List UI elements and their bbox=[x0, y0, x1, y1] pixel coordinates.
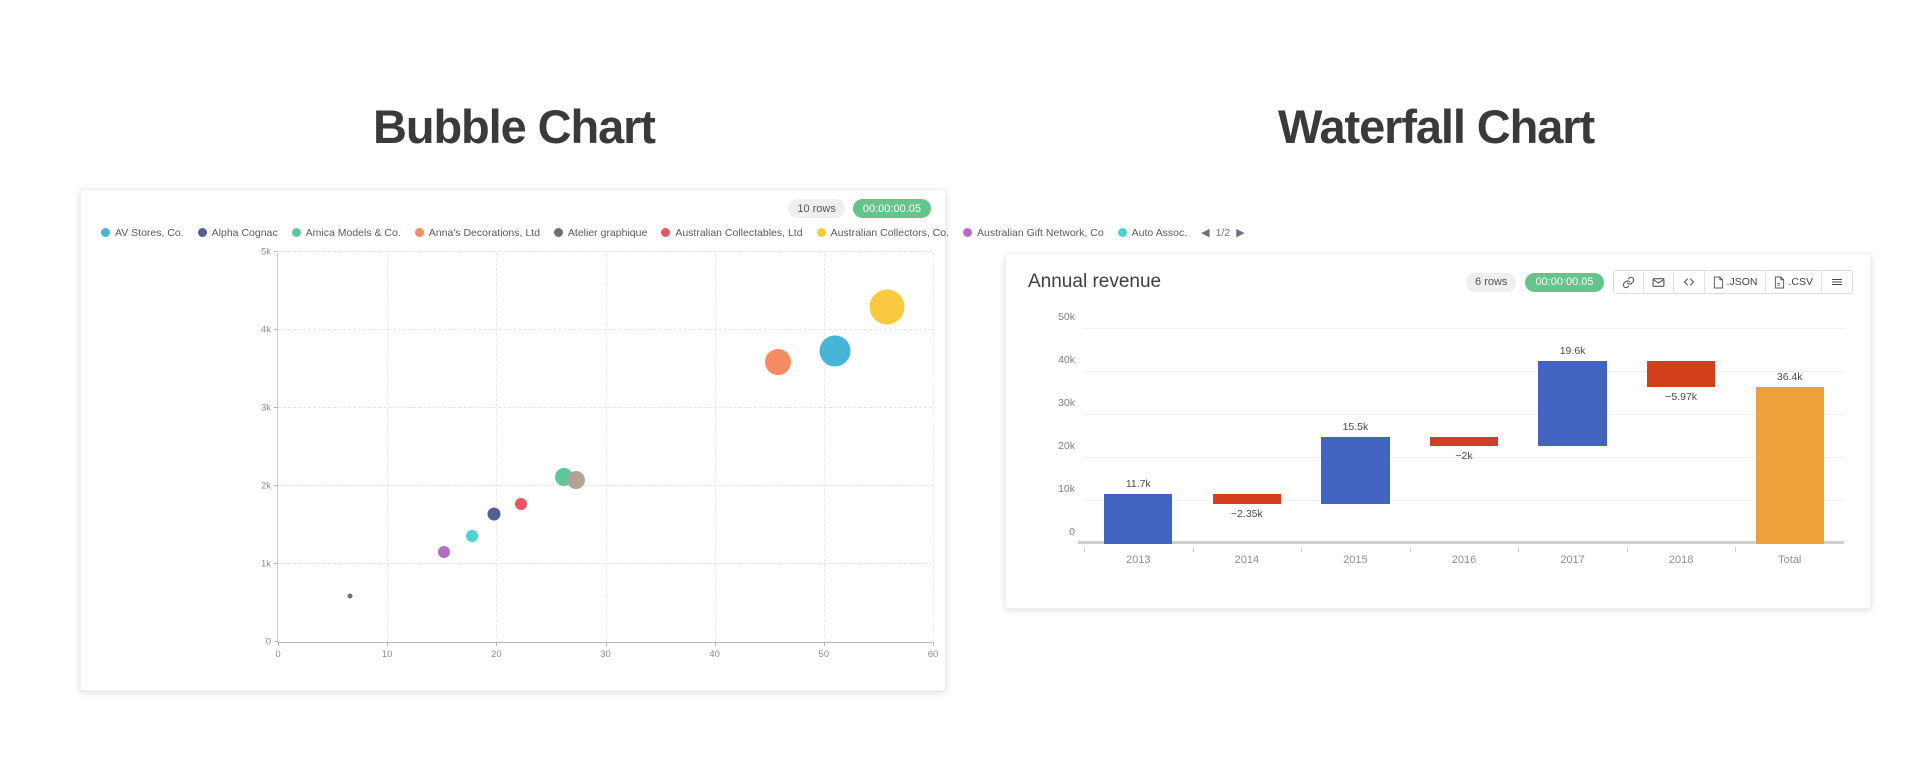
bubble-point[interactable] bbox=[466, 530, 478, 542]
legend-color-swatch bbox=[1118, 228, 1127, 237]
waterfall-bar[interactable] bbox=[1756, 387, 1824, 544]
legend-next-arrow[interactable]: ▶ bbox=[1236, 226, 1244, 239]
x-gridline bbox=[387, 253, 388, 642]
legend-item-label: Amica Models & Co. bbox=[306, 227, 401, 239]
waterfall-gridline bbox=[1084, 500, 1844, 501]
waterfall-bar-value-label: 11.7k bbox=[1126, 478, 1151, 490]
waterfall-bar[interactable] bbox=[1213, 494, 1281, 504]
legend-item[interactable]: Australian Gift Network, Co bbox=[963, 227, 1104, 239]
legend-color-swatch bbox=[292, 228, 301, 237]
legend-page-indicator: 1/2 bbox=[1216, 227, 1231, 239]
legend-item[interactable]: AV Stores, Co. bbox=[101, 227, 184, 239]
legend-item[interactable]: Amica Models & Co. bbox=[292, 227, 401, 239]
waterfall-bar-value-label: 36.4k bbox=[1777, 371, 1803, 383]
link-icon[interactable] bbox=[1614, 271, 1644, 293]
legend-color-swatch bbox=[415, 228, 424, 237]
legend-color-swatch bbox=[554, 228, 563, 237]
x-tick-mark bbox=[606, 642, 607, 646]
bubble-panel-title: Bubble Chart bbox=[373, 99, 655, 154]
legend-color-swatch bbox=[661, 228, 670, 237]
y-tick-mark bbox=[274, 563, 278, 564]
x-tick-mark bbox=[715, 642, 716, 646]
waterfall-y-tick-label: 30k bbox=[1058, 397, 1075, 409]
bubble-point[interactable] bbox=[567, 471, 585, 489]
x-tick-label: 30 bbox=[600, 649, 611, 660]
waterfall-y-tick-label: 0 bbox=[1069, 526, 1075, 538]
legend-item-label: Alpha Cognac bbox=[212, 227, 278, 239]
bubble-point[interactable] bbox=[819, 335, 850, 366]
legend-item[interactable]: Anna's Decorations, Ltd bbox=[415, 227, 540, 239]
legend-color-swatch bbox=[198, 228, 207, 237]
waterfall-panel-title: Waterfall Chart bbox=[1278, 99, 1594, 154]
x-tick-mark bbox=[278, 642, 279, 646]
waterfall-gridline bbox=[1084, 371, 1844, 372]
waterfall-x-tick-label: 2015 bbox=[1343, 554, 1367, 566]
waterfall-chart-card: Annual revenue 6 rows 00:00:00.05 bbox=[1005, 253, 1871, 609]
y-tick-label: 2k bbox=[261, 481, 271, 492]
waterfall-x-tick-mark bbox=[1627, 547, 1628, 552]
waterfall-x-tick-mark bbox=[1193, 547, 1194, 552]
legend-color-swatch bbox=[817, 228, 826, 237]
waterfall-y-tick-label: 10k bbox=[1058, 483, 1075, 495]
bubble-point[interactable] bbox=[515, 498, 527, 510]
waterfall-x-tick-label: 2017 bbox=[1560, 554, 1584, 566]
waterfall-x-tick-label: 2018 bbox=[1669, 554, 1693, 566]
waterfall-x-tick-mark bbox=[1084, 547, 1085, 552]
bubble-point[interactable] bbox=[488, 508, 501, 521]
menu-icon[interactable] bbox=[1822, 271, 1852, 293]
legend-item-label: Atelier graphique bbox=[568, 227, 647, 239]
waterfall-y-tick-label: 50k bbox=[1058, 311, 1075, 323]
bubble-point[interactable] bbox=[348, 594, 353, 599]
waterfall-timer-badge: 00:00:00.05 bbox=[1525, 273, 1603, 292]
waterfall-x-tick-label: 2016 bbox=[1452, 554, 1476, 566]
y-tick-mark bbox=[274, 407, 278, 408]
legend-prev-arrow[interactable]: ◀ bbox=[1201, 226, 1209, 239]
legend-item-label: Australian Collectors, Co. bbox=[831, 227, 949, 239]
bubble-plot-area: 01k2k3k4k5k0102030405060 bbox=[277, 253, 932, 643]
waterfall-bar[interactable] bbox=[1430, 437, 1498, 446]
x-gridline bbox=[606, 253, 607, 642]
waterfall-x-tick-mark bbox=[1518, 547, 1519, 552]
bubble-chart-card: 10 rows 00:00:00.05 AV Stores, Co.Alpha … bbox=[80, 189, 946, 691]
waterfall-card-header: Annual revenue 6 rows 00:00:00.05 bbox=[1006, 254, 1870, 310]
legend-item-label: Auto Assoc. bbox=[1132, 227, 1187, 239]
x-tick-label: 60 bbox=[928, 649, 939, 660]
waterfall-bar-value-label: 19.6k bbox=[1560, 345, 1586, 357]
legend-color-swatch bbox=[963, 228, 972, 237]
waterfall-plot: 010k20k30k40k50k11.7k2013−2.35k201415.5k… bbox=[1084, 329, 1844, 544]
x-tick-mark bbox=[824, 642, 825, 646]
waterfall-bar-value-label: 15.5k bbox=[1343, 421, 1369, 433]
x-tick-label: 40 bbox=[709, 649, 720, 660]
x-gridline bbox=[496, 253, 497, 642]
legend-item[interactable]: Alpha Cognac bbox=[198, 227, 278, 239]
waterfall-rows-badge: 6 rows bbox=[1466, 273, 1516, 292]
bubble-point[interactable] bbox=[870, 289, 905, 324]
waterfall-x-tick-mark bbox=[1301, 547, 1302, 552]
bubble-point[interactable] bbox=[765, 349, 791, 375]
json-file-icon[interactable]: .JSON bbox=[1705, 271, 1767, 293]
x-gridline bbox=[933, 253, 934, 642]
waterfall-card-title: Annual revenue bbox=[1028, 271, 1161, 293]
waterfall-bar-value-label: −2k bbox=[1455, 450, 1472, 462]
y-tick-label: 3k bbox=[261, 403, 271, 414]
waterfall-gridline bbox=[1084, 414, 1844, 415]
waterfall-bar[interactable] bbox=[1538, 361, 1606, 445]
x-tick-label: 50 bbox=[819, 649, 830, 660]
waterfall-bar[interactable] bbox=[1321, 437, 1389, 504]
bubble-timer-badge: 00:00:00.05 bbox=[853, 199, 931, 218]
json-export-label: .JSON bbox=[1727, 276, 1758, 288]
y-tick-label: 0 bbox=[266, 637, 271, 648]
x-tick-label: 10 bbox=[382, 649, 393, 660]
legend-item[interactable]: Atelier graphique bbox=[554, 227, 647, 239]
waterfall-toolbar: 6 rows 00:00:00.05 .JSON bbox=[1466, 270, 1853, 294]
bubble-card-meta: 10 rows 00:00:00.05 bbox=[788, 199, 931, 218]
legend-color-swatch bbox=[101, 228, 110, 237]
csv-file-icon[interactable]: .CSV bbox=[1766, 271, 1822, 293]
code-icon[interactable] bbox=[1674, 271, 1705, 293]
legend-item-label: Australian Collectables, Ltd bbox=[675, 227, 802, 239]
y-tick-mark bbox=[274, 329, 278, 330]
waterfall-x-tick-label: 2014 bbox=[1235, 554, 1259, 566]
x-gridline bbox=[824, 253, 825, 642]
waterfall-y-tick-label: 20k bbox=[1058, 440, 1075, 452]
legend-pager: ◀1/2▶ bbox=[1201, 226, 1245, 239]
waterfall-gridline bbox=[1084, 328, 1844, 329]
waterfall-y-tick-label: 40k bbox=[1058, 354, 1075, 366]
email-icon[interactable] bbox=[1644, 271, 1674, 293]
waterfall-bar[interactable] bbox=[1104, 494, 1172, 544]
legend-item-label: Australian Gift Network, Co bbox=[977, 227, 1104, 239]
waterfall-x-axis bbox=[1078, 541, 1844, 544]
legend-item-label: AV Stores, Co. bbox=[115, 227, 184, 239]
legend-item[interactable]: Auto Assoc. bbox=[1118, 227, 1187, 239]
y-gridline bbox=[278, 251, 932, 252]
x-tick-mark bbox=[387, 642, 388, 646]
waterfall-export-group: .JSON .CSV bbox=[1613, 270, 1853, 294]
bubble-point[interactable] bbox=[438, 546, 450, 558]
bubble-legend: AV Stores, Co.Alpha CognacAmica Models &… bbox=[101, 226, 935, 239]
legend-item-label: Anna's Decorations, Ltd bbox=[429, 227, 540, 239]
x-tick-mark bbox=[933, 642, 934, 646]
y-tick-mark bbox=[274, 251, 278, 252]
waterfall-bar[interactable] bbox=[1647, 361, 1715, 387]
waterfall-x-tick-label: Total bbox=[1778, 554, 1801, 566]
waterfall-x-tick-mark bbox=[1410, 547, 1411, 552]
waterfall-bar-value-label: −2.35k bbox=[1231, 508, 1263, 520]
y-tick-label: 1k bbox=[261, 559, 271, 570]
legend-item[interactable]: Australian Collectors, Co. bbox=[817, 227, 949, 239]
waterfall-x-tick-label: 2013 bbox=[1126, 554, 1150, 566]
y-tick-mark bbox=[274, 485, 278, 486]
waterfall-x-tick-mark bbox=[1735, 547, 1736, 552]
x-tick-mark bbox=[496, 642, 497, 646]
x-gridline bbox=[715, 253, 716, 642]
waterfall-bar-value-label: −5.97k bbox=[1665, 391, 1697, 403]
legend-item[interactable]: Australian Collectables, Ltd bbox=[661, 227, 802, 239]
y-tick-label: 4k bbox=[261, 325, 271, 336]
csv-export-label: .CSV bbox=[1788, 276, 1813, 288]
waterfall-plot-area: 010k20k30k40k50k11.7k2013−2.35k201415.5k… bbox=[1084, 329, 1844, 544]
x-tick-label: 20 bbox=[491, 649, 502, 660]
page-root: Bubble Chart 10 rows 00:00:00.05 AV Stor… bbox=[0, 0, 1920, 780]
bubble-plot: 01k2k3k4k5k0102030405060 bbox=[277, 253, 932, 643]
x-tick-label: 0 bbox=[275, 649, 280, 660]
bubble-rows-badge: 10 rows bbox=[788, 199, 845, 218]
y-tick-label: 5k bbox=[261, 247, 271, 258]
